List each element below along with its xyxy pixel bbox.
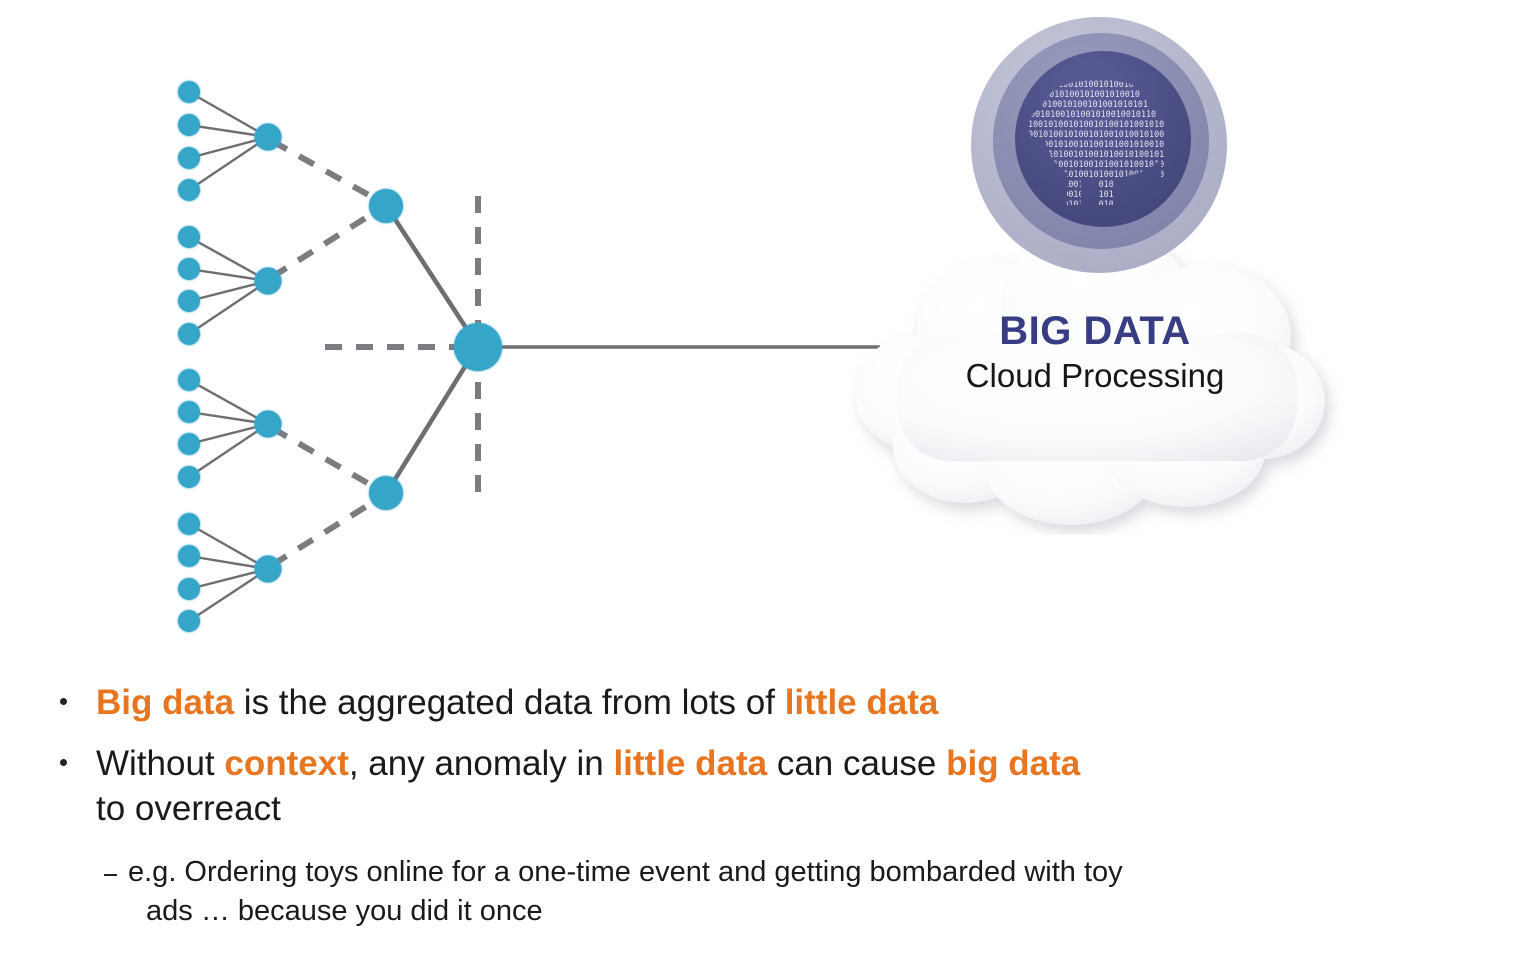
bullet-dot-icon [60,698,67,705]
aggregator-node[interactable] [255,556,282,583]
aggregator-node[interactable] [255,268,282,295]
bullet-2-plain-1: Without [96,744,224,783]
bullet-1-text: Big data is the aggregated data from lot… [96,680,1516,725]
bullet-2-plain-3: can cause [767,744,946,783]
sub-bullet-line-2: ads … because you did it once [128,892,1516,931]
bullet-1-accent-2: little data [785,683,939,722]
binary-elephant-icon: 01001100101001010010 1010010100101001010… [963,9,1236,282]
leaf-node[interactable] [178,323,200,345]
slide-canvas: BIG DATA Cloud Processing [0,0,1516,977]
leaf-node[interactable] [178,147,200,169]
bullet-2-accent-3: big data [946,744,1080,783]
binary-elephant-badge[interactable]: 01001100101001010010 1010010100101001010… [963,9,1236,282]
mid-node[interactable] [369,189,403,223]
aggregator-node[interactable] [255,411,282,438]
sub-bullet-text: e.g. Ordering toys online for a one-time… [128,853,1516,931]
aggregator-dashed-edges-group [272,141,383,565]
bullet-item-1: Big data is the aggregated data from lot… [0,680,1516,725]
leaf-node[interactable] [178,610,200,632]
bullet-1-plain-1: is the aggregated data from lots of [234,683,785,722]
svg-text:010010010100101001010101: 010010010100101001010101 [1027,99,1148,109]
svg-text:10010100101001010010010110: 10010100101001010010010110 [1025,109,1156,119]
aggregator-node[interactable] [255,124,282,151]
leaf-node[interactable] [178,433,200,455]
bullet-list: Big data is the aggregated data from lot… [0,680,1516,931]
leaf-node[interactable] [178,369,200,391]
leaf-node[interactable] [178,290,200,312]
en-dash-icon [104,874,117,876]
leaf-node[interactable] [178,545,200,567]
svg-text:1001010010100101001010010100: 1001010010100101001010010100 [1023,129,1164,139]
leaf-node[interactable] [178,258,200,280]
hub-node[interactable] [454,323,502,371]
leaf-nodes-group [178,81,200,632]
leaf-node[interactable] [178,401,200,423]
bullet-2-text: Without context, any anomaly in little d… [96,741,1516,831]
mid-node[interactable] [369,476,403,510]
aggregator-nodes-group [255,124,282,583]
bullet-2-accent-1: context [224,744,348,783]
leaf-node[interactable] [178,578,200,600]
sub-bullet-item-1: e.g. Ordering toys online for a one-time… [0,853,1516,931]
bullet-dot-icon [60,759,67,766]
leaf-node[interactable] [178,114,200,136]
bullet-item-2: Without context, any anomaly in little d… [0,741,1516,831]
leaf-node[interactable] [178,226,200,248]
leaf-node[interactable] [178,81,200,103]
leaf-node[interactable] [178,513,200,535]
bullet-2-plain-2: , any anomaly in [349,744,614,783]
bullet-2-plain-4: to overreact [96,786,1516,831]
bullet-2-accent-2: little data [613,744,767,783]
leaf-node[interactable] [178,179,200,201]
leaf-edges-group [189,92,268,621]
sub-bullet-line-1: e.g. Ordering toys online for a one-time… [128,853,1516,892]
bullet-1-accent-1: Big data [96,683,234,722]
leaf-node[interactable] [178,466,200,488]
svg-text:0100101001010010100101001010: 0100101001010010100101001010 [1023,119,1164,129]
